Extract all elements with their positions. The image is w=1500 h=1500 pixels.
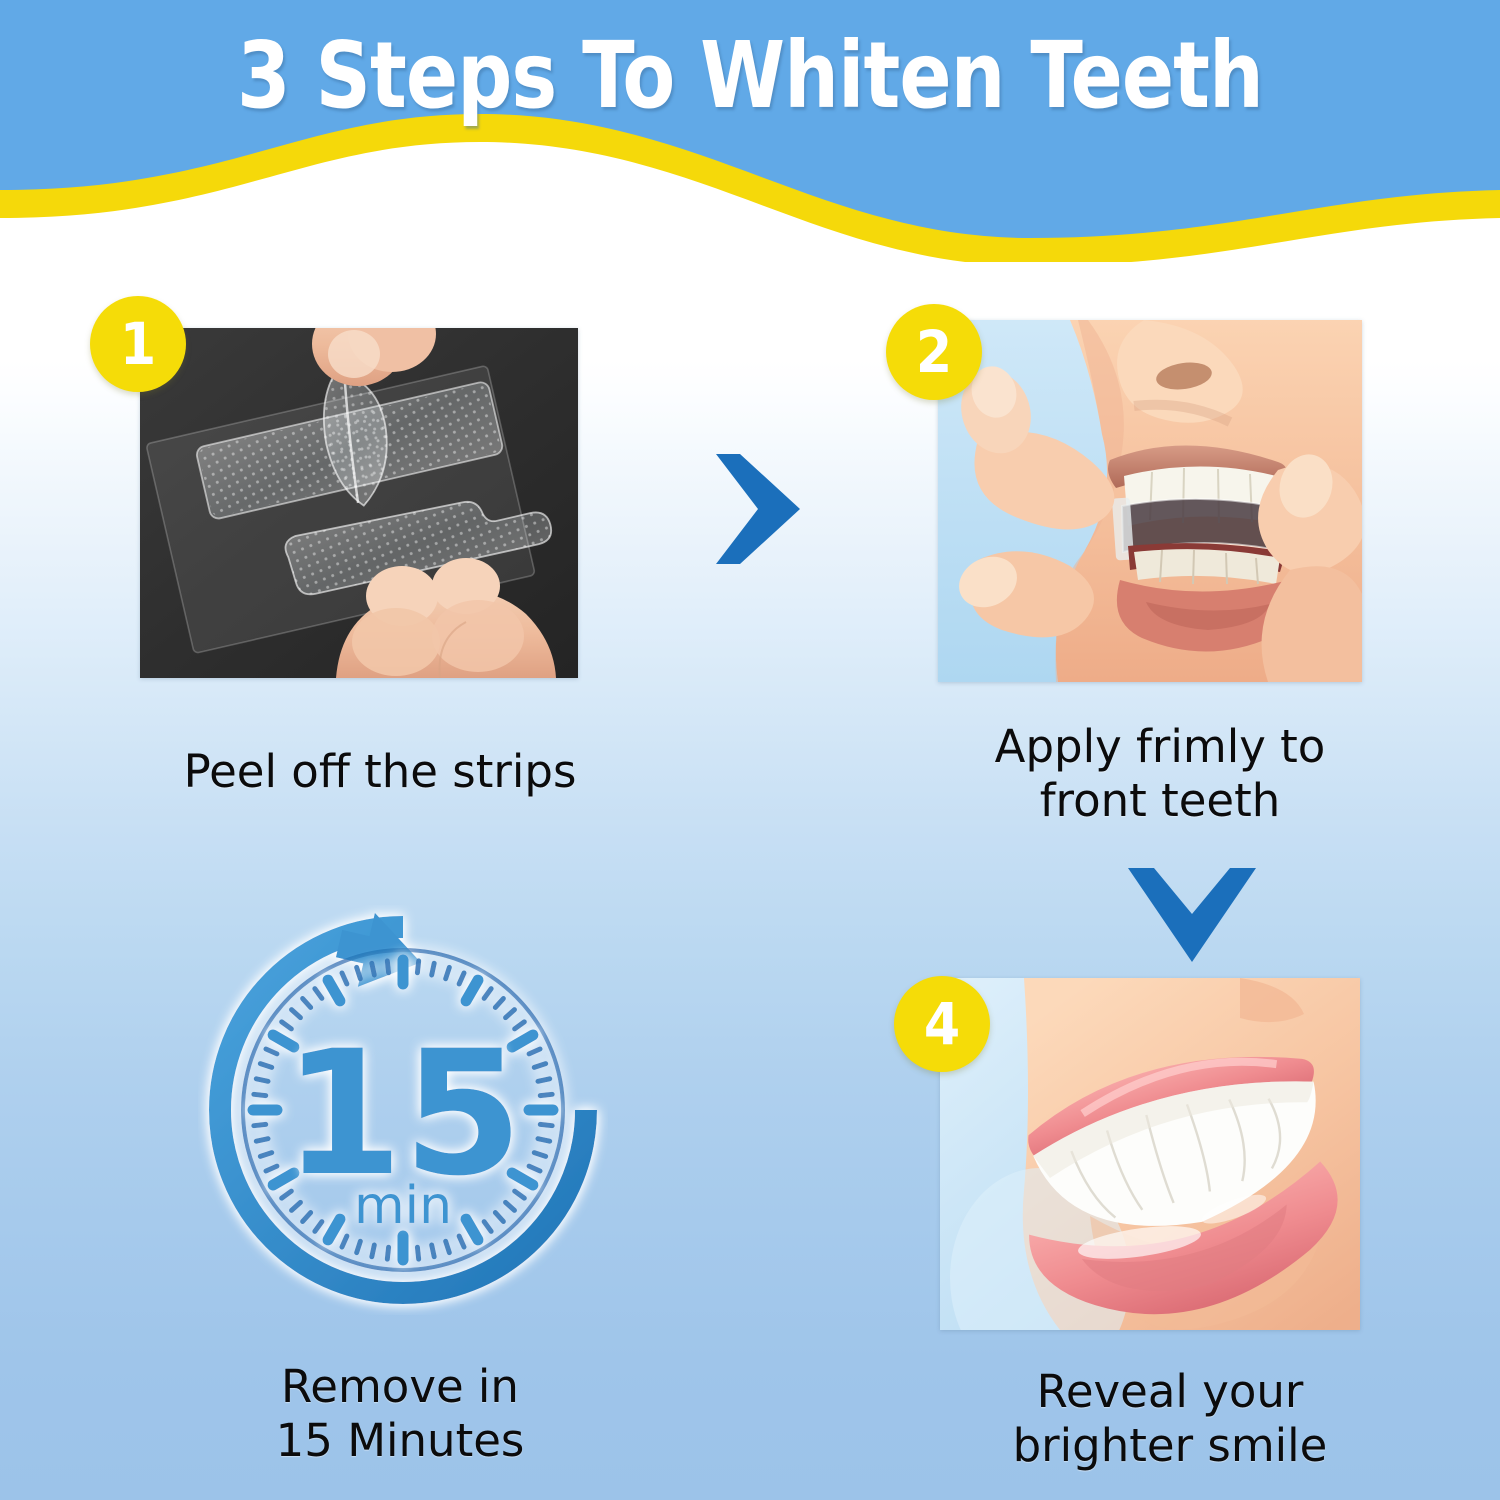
step-caption-4: Reveal your brighter smile: [940, 1365, 1400, 1473]
arrow-down-step2-to-step4: [1122, 862, 1262, 970]
step-badge-4-number: 4: [894, 976, 990, 1072]
photo-peel-strips: [140, 328, 578, 678]
step-badge-2-number: 2: [886, 304, 982, 400]
step-caption-1: Peel off the strips: [100, 745, 660, 799]
step-badge-1: 1: [90, 296, 186, 392]
step-badge-1-number: 1: [90, 296, 186, 392]
step-caption-3: Remove in 15 Minutes: [140, 1360, 660, 1468]
page-title: 3 Steps To Whiten Teeth: [53, 22, 1448, 129]
step-badge-4: 4: [894, 976, 990, 1072]
step-caption-2: Apply frimly to front teeth: [900, 720, 1420, 828]
photo-apply-strip: [938, 320, 1362, 682]
step-badge-2: 2: [886, 304, 982, 400]
timer-graphic: 15 min: [198, 905, 608, 1315]
header-banner: 3 Steps To Whiten Teeth: [0, 0, 1500, 262]
arrow-right-step1-to-step2: [700, 448, 812, 570]
photo-bright-smile: [940, 978, 1360, 1330]
timer-unit: min: [354, 1176, 452, 1236]
infographic-page: 3 Steps To Whiten Teeth: [0, 0, 1500, 1500]
